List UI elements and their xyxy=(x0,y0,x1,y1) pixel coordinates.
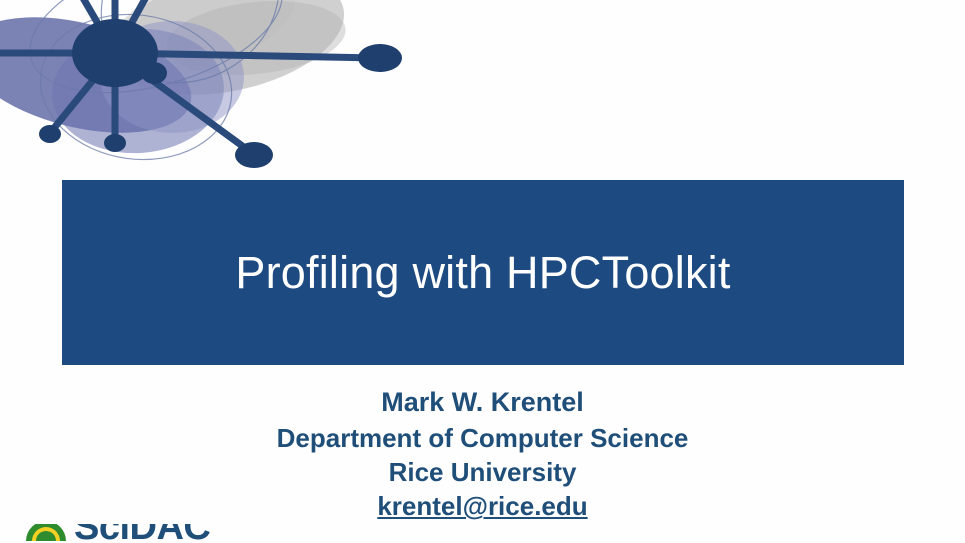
scidac-dome-icon xyxy=(24,524,68,543)
presentation-slide: Profiling with HPCToolkit Mark W. Krente… xyxy=(0,0,965,543)
author-institution: Rice University xyxy=(0,455,965,489)
scidac-logo: SciDAC xyxy=(24,524,210,543)
petal-blue-group xyxy=(0,0,244,159)
author-department: Department of Computer Science xyxy=(0,421,965,455)
page-title: Profiling with HPCToolkit xyxy=(235,248,730,298)
scidac-wordmark: SciDAC xyxy=(74,524,210,543)
hub-node xyxy=(72,19,158,87)
author-name: Mark W. Krentel xyxy=(0,385,965,421)
node-group xyxy=(0,0,402,168)
arc-outline-group xyxy=(14,0,309,172)
network-hub-graphic xyxy=(0,0,430,195)
spoke-group xyxy=(0,0,378,153)
author-email-link[interactable]: krentel@rice.edu xyxy=(377,489,587,523)
petal-gray-group xyxy=(98,0,355,114)
title-banner: Profiling with HPCToolkit xyxy=(62,180,904,365)
author-block: Mark W. Krentel Department of Computer S… xyxy=(0,385,965,524)
